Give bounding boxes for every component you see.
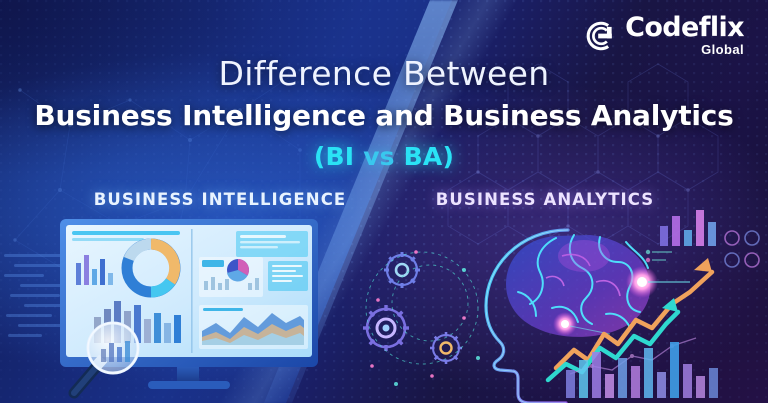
gear-icon (384, 252, 420, 288)
codeflix-circular-g-logo-icon (580, 16, 620, 56)
section-label-business-analytics: BUSINESS ANALYTICS (405, 190, 685, 209)
bar-chart-icon (660, 210, 716, 246)
headline-line-2: Business Intelligence and Business Analy… (0, 99, 768, 132)
banner-canvas: Codeflix Global Difference Between Busin… (0, 0, 768, 403)
headline-line-3: (BI vs BA) (0, 142, 768, 171)
gear-icon (430, 332, 462, 364)
brand-name: Codeflix (625, 14, 744, 41)
brand-logo[interactable]: Codeflix Global (580, 14, 744, 56)
gear-cluster (363, 250, 480, 386)
bar-chart-icon (566, 342, 718, 398)
bi-dashboard-monitor-illustration (52, 213, 362, 403)
ba-neural-brain-illustration (360, 208, 768, 403)
headline-line-1: Difference Between (0, 54, 768, 93)
section-label-business-intelligence: BUSINESS INTELLIGENCE (70, 190, 370, 209)
headline-ba-token: BA) (404, 142, 454, 171)
headline-bi-token: (BI (314, 142, 354, 171)
headline-vs-token: vs (363, 142, 395, 171)
monitor-stand-base-icon (148, 381, 230, 389)
